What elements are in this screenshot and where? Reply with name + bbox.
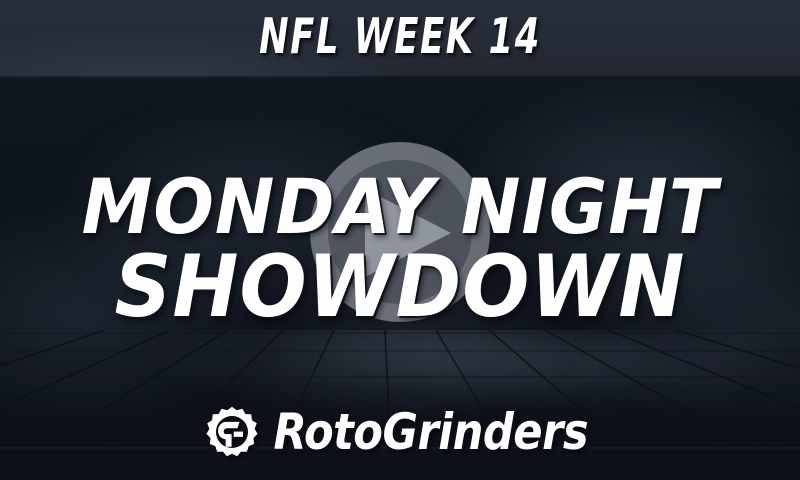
hero-scene: MONDAY NIGHT SHOWDOWN RotoGrinders: [0, 78, 800, 480]
brand-lockup: RotoGrinders: [0, 400, 800, 464]
header-band: NFL WEEK 14: [0, 0, 800, 78]
headline-line-1: MONDAY NIGHT: [0, 167, 800, 247]
headline-line-2: SHOWDOWN: [0, 242, 800, 332]
page-title: NFL WEEK 14: [80, 9, 720, 65]
video-thumbnail[interactable]: NFL WEEK 14: [0, 0, 800, 480]
brand-name: RotoGrinders: [274, 405, 589, 459]
rotogrinders-gear-icon: [205, 405, 259, 459]
